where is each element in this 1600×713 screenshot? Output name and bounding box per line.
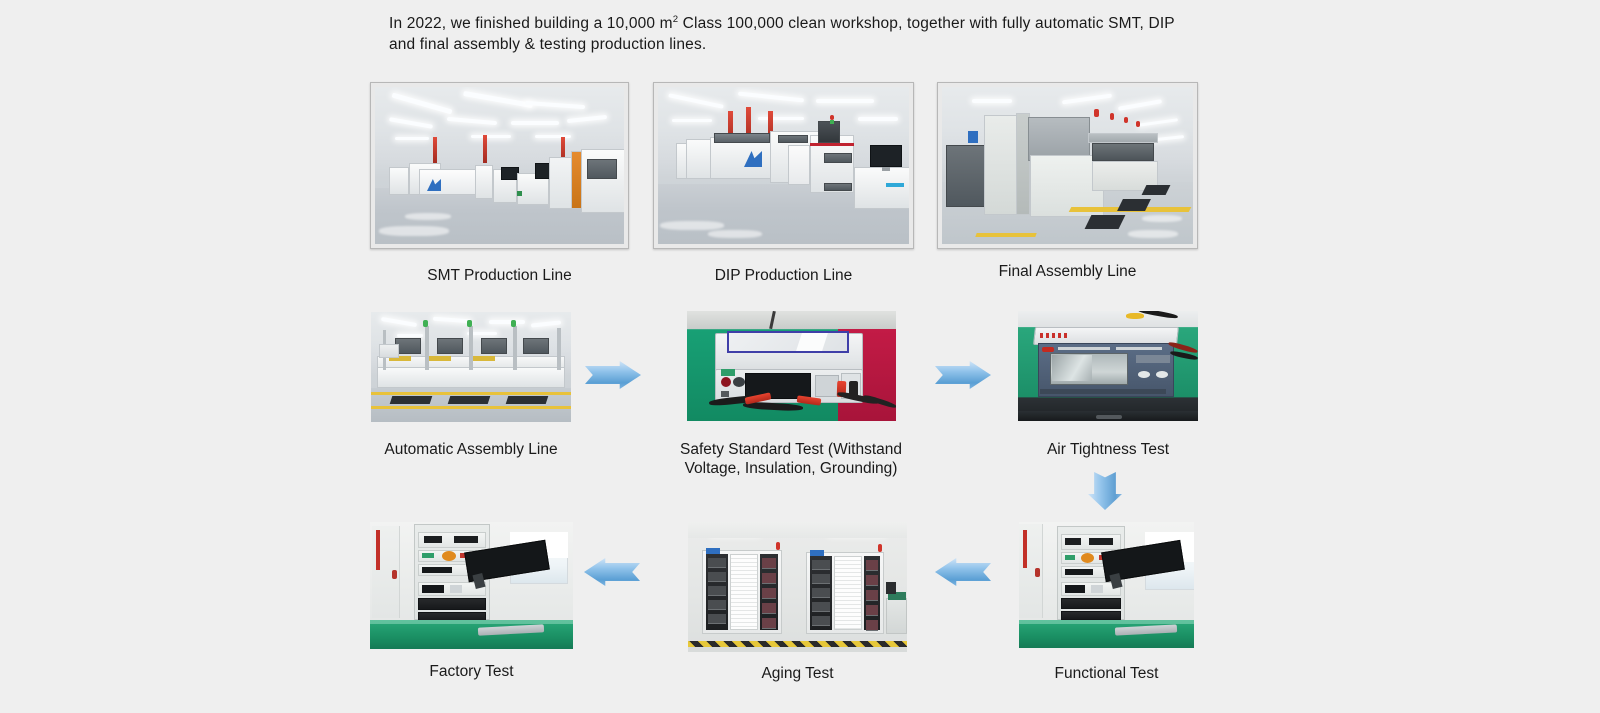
- scene-factory-test-lab: [370, 522, 573, 649]
- scene-automatic-assembly: [371, 312, 571, 422]
- caption-factory-test: Factory Test: [370, 662, 573, 681]
- scene-final-assembly-cleanroom: [942, 87, 1193, 244]
- arrow-down-icon-airtightness-to-functional: [1088, 472, 1122, 510]
- intro-text-before: In 2022, we finished building a 10,000: [389, 15, 660, 32]
- scene-aging-test-room: [688, 522, 907, 652]
- photo-functional-test[interactable]: [1019, 522, 1194, 648]
- caption-safety-standard-test: Safety Standard Test (Withstand Voltage,…: [648, 440, 934, 479]
- photo-aging-test[interactable]: [688, 522, 907, 652]
- arrow-left-icon-aging-to-factory: [584, 558, 640, 586]
- caption-smt-production-line: SMT Production Line: [370, 266, 629, 285]
- caption-final-assembly-line: Final Assembly Line: [937, 262, 1198, 281]
- arrow-right-icon-assembly-to-safety: [585, 361, 641, 389]
- photo-factory-test[interactable]: [370, 522, 573, 649]
- caption-aging-test: Aging Test: [688, 664, 907, 683]
- scene-air-tightness-bench: [1018, 311, 1198, 421]
- intro-unit: m: [660, 15, 673, 32]
- scene-safety-test-bench: [687, 311, 896, 421]
- intro-paragraph: In 2022, we finished building a 10,000 m…: [389, 14, 1179, 55]
- photo-final-assembly-line[interactable]: [937, 82, 1198, 249]
- caption-dip-production-line: DIP Production Line: [653, 266, 914, 285]
- caption-automatic-assembly-line: Automatic Assembly Line: [340, 440, 602, 459]
- photo-automatic-assembly-line[interactable]: [371, 312, 571, 422]
- photo-safety-standard-test[interactable]: [687, 311, 896, 421]
- photo-dip-production-line[interactable]: [653, 82, 914, 249]
- scene-functional-test-lab: [1019, 522, 1194, 648]
- scene-smt-cleanroom: [375, 87, 624, 244]
- caption-functional-test: Functional Test: [1019, 664, 1194, 683]
- arrow-right-icon-safety-to-airtightness: [935, 361, 991, 389]
- scene-dip-cleanroom: [658, 87, 909, 244]
- caption-air-tightness-test: Air Tightness Test: [1018, 440, 1198, 459]
- photo-smt-production-line[interactable]: [370, 82, 629, 249]
- photo-air-tightness-test[interactable]: [1018, 311, 1198, 421]
- arrow-left-icon-functional-to-aging: [935, 558, 991, 586]
- slide-canvas: In 2022, we finished building a 10,000 m…: [0, 0, 1600, 713]
